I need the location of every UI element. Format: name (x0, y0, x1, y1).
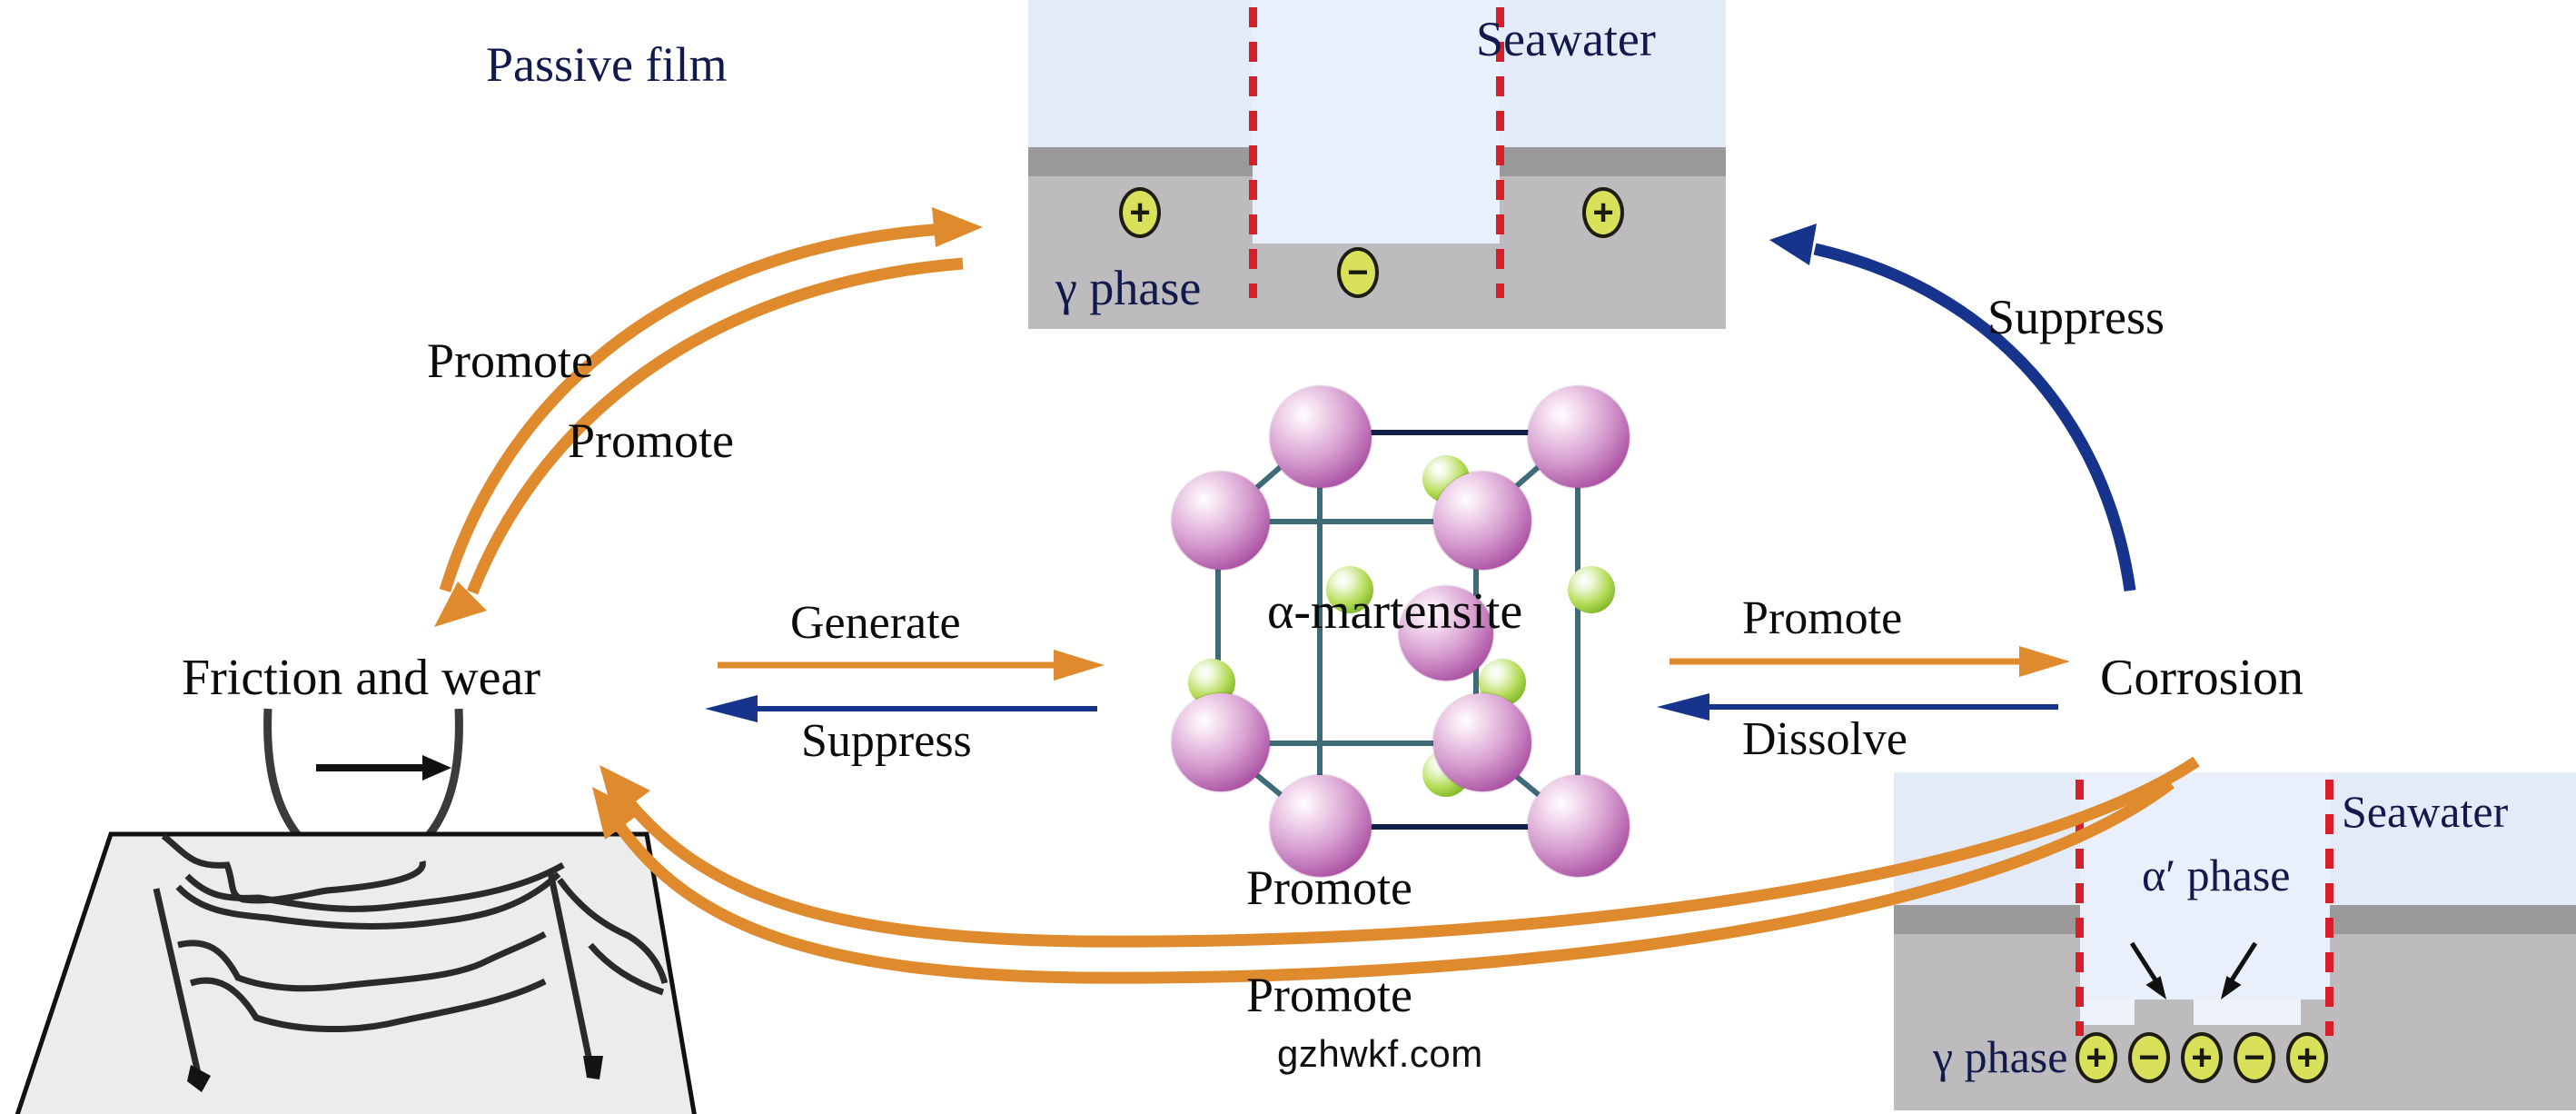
charge-symbol: − (2138, 1039, 2159, 1076)
arrow-head (2019, 646, 2070, 677)
seawater-label-bottom: Seawater (2342, 789, 2508, 834)
lattice-atom-front-top-right (1528, 386, 1630, 488)
lattice-atom-front-top-left (1270, 386, 1372, 488)
arrow-shaft (752, 706, 1097, 711)
arrow-shaft (1669, 659, 2033, 665)
promote-label-lower-inner: Promote (1246, 863, 1412, 912)
suppress-curve-upper-right (1769, 224, 2130, 591)
charge-symbol: − (1347, 254, 1368, 291)
lattice-atom-rear-top-right (1433, 472, 1531, 570)
lattice-atom-front-bottom-right (1528, 775, 1630, 877)
watermark: gzhwkf.com (1277, 1032, 1483, 1076)
gamma-phase-label-bottom: γ phase (1933, 1034, 2067, 1079)
arrow-shaft (718, 662, 1067, 669)
charge-positive-3: + (2286, 1032, 2328, 1083)
delamination-wear-illustration (0, 718, 799, 1045)
promote-label-lower-outer: Promote (1246, 970, 1412, 1020)
alpha-prime-phase-label: α′ phase (2142, 852, 2290, 898)
charge-symbol: − (2244, 1039, 2264, 1076)
seawater-label-top: Seawater (1476, 15, 1656, 64)
gamma-phase-label-top: γ phase (1055, 264, 1201, 313)
generate-label: Generate (790, 600, 961, 647)
lattice-atom-rear-top-left (1172, 472, 1270, 570)
pit-boundary-left-dashed (1249, 7, 1257, 298)
lattice-atom-rear-bottom-left (1172, 693, 1270, 791)
promote-label-upper-left-outer: Promote (427, 336, 593, 385)
charge-positive-right: + (1582, 187, 1624, 238)
passive-film-label: Passive film (486, 40, 728, 89)
charge-symbol: + (2296, 1039, 2317, 1076)
charge-symbol: + (1592, 194, 1613, 231)
charge-negative-1: − (2128, 1032, 2170, 1083)
charge-symbol: + (1129, 194, 1150, 231)
lattice-atom-rear-bottom-right (1433, 693, 1531, 791)
charge-positive-left: + (1119, 187, 1161, 238)
suppress-label-center: Suppress (801, 718, 972, 765)
arrow-head (932, 207, 983, 247)
arrow-head (434, 582, 487, 627)
martensite-label: α-martensite (1267, 586, 1522, 637)
promote-label-upper-left-inner: Promote (568, 416, 734, 465)
charge-symbol: + (2086, 1039, 2106, 1076)
pit-notch (1253, 0, 1500, 244)
promote-curve-outer-upper-left (445, 207, 983, 591)
promote-label-right: Promote (1742, 595, 1902, 642)
suppress-label-upper-right: Suppress (1987, 293, 2165, 342)
charge-symbol: + (2191, 1039, 2212, 1076)
corrosion-label: Corrosion (2100, 652, 2304, 703)
arrow-shaft (1704, 704, 2058, 710)
friction-and-wear-label: Friction and wear (182, 652, 540, 703)
charge-positive-2: + (2181, 1032, 2223, 1083)
arrow-head (1657, 693, 1709, 721)
dissolve-label: Dissolve (1742, 716, 1907, 763)
interstitial-atom-upper-right (1568, 566, 1615, 613)
diagram-canvas: + − + Passive film Seawater γ phase (0, 0, 2576, 1114)
arrow-head (705, 695, 758, 722)
arrow-head (1054, 650, 1105, 681)
charge-positive-1: + (2076, 1032, 2117, 1083)
sliding-direction-arrow-icon (316, 755, 451, 781)
arrow-head (1769, 224, 1817, 265)
charge-negative-2: − (2234, 1032, 2275, 1083)
charge-negative-center: − (1337, 247, 1379, 298)
